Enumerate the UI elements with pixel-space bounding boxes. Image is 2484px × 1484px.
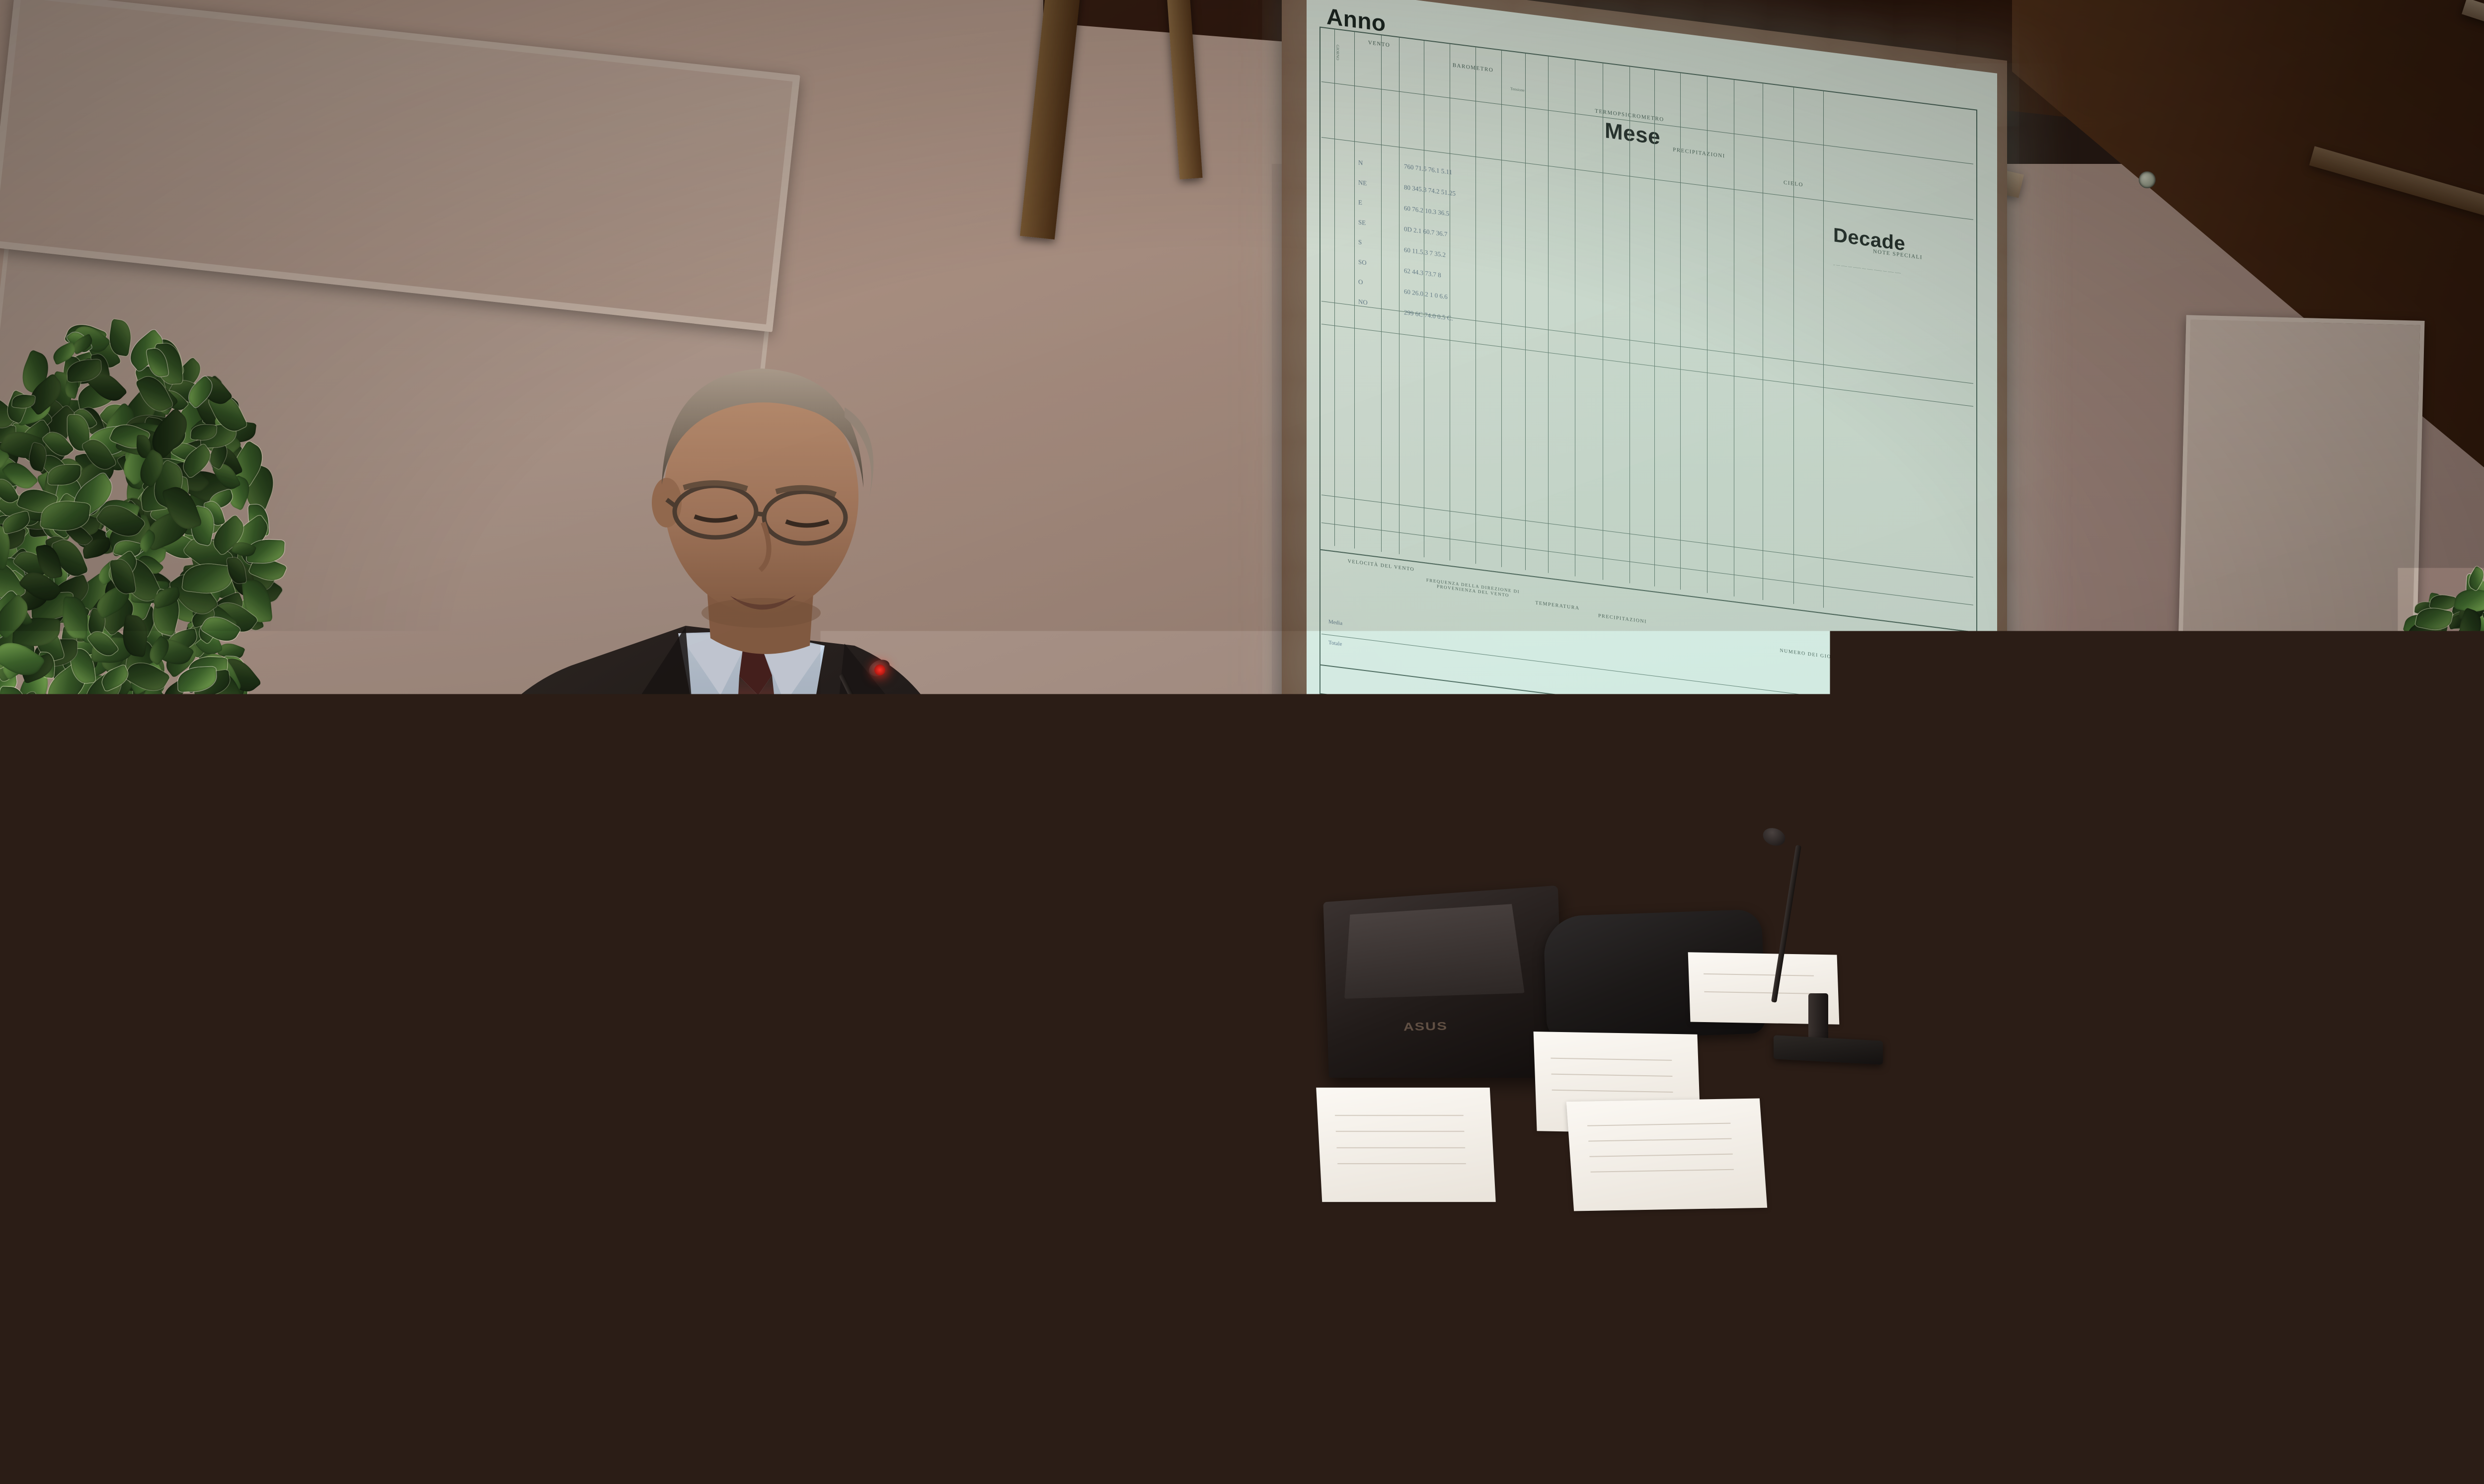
- ficus-plant-left: [0, 278, 328, 1484]
- cup[interactable]: [1983, 964, 2014, 1015]
- register-column-rule: [1354, 32, 1355, 548]
- register-column-rule: [1548, 57, 1549, 573]
- register-wind-dir: N: [1358, 158, 1363, 167]
- logo-museo-civico: Fondazione Museo Civico di Rovereto: [932, 937, 977, 950]
- register-wind-dir: S: [1358, 238, 1362, 246]
- poster-photo-register-sheet: [798, 1150, 876, 1215]
- laptop-lid-panel: [1342, 903, 1525, 999]
- register-wind-dir: SE: [1358, 218, 1366, 227]
- leaf: [2392, 886, 2420, 912]
- caritro-emblem-icon: [772, 947, 794, 974]
- register-subheader: GIORNO: [1335, 45, 1340, 61]
- beam-bolt-icon: [2139, 171, 2156, 188]
- projected-slide: Anno Mese Decade VENTO BA: [1307, 0, 1997, 809]
- leaf: [44, 823, 62, 852]
- bottle-body: [2041, 924, 2084, 1038]
- fondazione-circle-icon: [909, 913, 931, 935]
- register-column-rule: [1525, 54, 1526, 570]
- register-column-rule: [1424, 41, 1424, 557]
- leaf: [2, 786, 37, 812]
- emergency-stop-button[interactable]: [2154, 704, 2176, 727]
- bottle-water-level: [2112, 975, 2152, 992]
- cup[interactable]: [1950, 973, 1981, 1025]
- register-column-rule: [1630, 67, 1630, 583]
- event-poster: crea Consiglio per la ricerca in agricol…: [632, 906, 1010, 1458]
- handout-paper[interactable]: [1316, 1088, 1496, 1202]
- bottle-body: [2110, 936, 2153, 1050]
- laptop[interactable]: ASUS: [1323, 886, 1564, 1078]
- poster-collaboration-line: In collaborazione con: [676, 1408, 711, 1415]
- bottle-neck: [2055, 903, 2070, 927]
- leaf: [2435, 917, 2452, 941]
- trentino-map-graphic: [763, 994, 857, 1066]
- bottle-label-stripe: [2110, 1025, 2153, 1032]
- bottle-neck: [2124, 915, 2139, 939]
- chin-shadow: [701, 598, 821, 628]
- register-wind-dir: SO: [1358, 258, 1367, 267]
- leaf: [211, 1311, 257, 1345]
- register-column-rule: [1450, 44, 1450, 561]
- logo-fondazione-comuno: Fondazione Comuno Marchi: [930, 910, 978, 919]
- register-column-rule: [1381, 35, 1382, 552]
- microphone-body: [1808, 993, 1828, 1043]
- leaf: [175, 1235, 203, 1271]
- leaf: [2458, 861, 2484, 885]
- podium-microphone-led-indicator: [874, 665, 885, 675]
- register-column-rule: [1575, 60, 1575, 576]
- register-column-rule: [1823, 91, 1824, 608]
- register-column-rule: [1501, 51, 1502, 567]
- poster-partner-logos: [668, 1338, 1010, 1405]
- leaf: [185, 1424, 210, 1443]
- register-wind-dir: NO: [1358, 297, 1368, 306]
- register-wind-dir: E: [1358, 198, 1362, 207]
- poster-contributor-line: Con il contributo della: [771, 925, 839, 939]
- register-column-rule: [1763, 83, 1763, 600]
- leaf: [155, 1469, 173, 1484]
- museo-c-icon: C: [912, 936, 931, 958]
- bottle-water-level: [2042, 963, 2082, 979]
- register-wind-dir: NE: [1358, 178, 1367, 187]
- conference-room-photograph: Anno Mese Decade VENTO BA: [0, 0, 2484, 1484]
- laptop-brand-label: ASUS: [1403, 1020, 1448, 1034]
- handout-paper[interactable]: [1566, 1098, 1767, 1211]
- register-column-rule: [1603, 63, 1603, 580]
- ficus-plant-right: [2365, 497, 2484, 1192]
- register-column-rule: [1793, 87, 1794, 604]
- register-wind-dir: O: [1358, 278, 1363, 286]
- register-column-rule: [1334, 29, 1335, 546]
- register-column-rule: [1399, 38, 1399, 554]
- bottle-label-stripe: [2041, 1012, 2084, 1019]
- register-column-rule: [1475, 47, 1476, 564]
